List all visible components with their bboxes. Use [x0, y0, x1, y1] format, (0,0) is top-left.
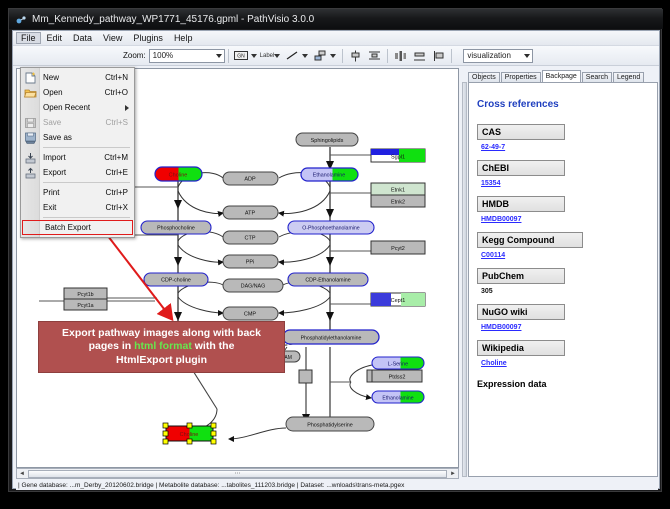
file-menu-item-open[interactable]: Open Ctrl+O — [21, 85, 134, 100]
visualization-combo[interactable]: visualization — [463, 49, 533, 63]
file-dropdown-menu[interactable]: New Ctrl+N Open Ctrl+O Open Recent — [20, 67, 135, 238]
toolbar-separator — [342, 49, 343, 63]
zoom-combo[interactable]: 100% — [149, 49, 225, 63]
menu-data[interactable]: Data — [68, 32, 97, 44]
chevron-down-icon — [216, 54, 222, 58]
stack-icon[interactable] — [430, 47, 447, 64]
file-menu-label-export: Export — [43, 168, 66, 177]
svg-text:DAG/NAG: DAG/NAG — [241, 284, 265, 290]
svg-text:Ethanolamine: Ethanolamine — [382, 395, 413, 401]
node-phosphocholine[interactable]: Phosphocholine — [141, 221, 211, 234]
toolbar: Zoom: 100% GN Label — [13, 46, 659, 66]
submenu-arrow-icon — [125, 105, 129, 111]
annotation-line-1: Export pathway images along with back — [62, 327, 261, 339]
svg-text:Phosphocholine: Phosphocholine — [157, 226, 195, 232]
tab-objects[interactable]: Objects — [468, 72, 500, 83]
file-menu-label-exit: Exit — [43, 203, 56, 212]
gene-box-pcyt1b[interactable]: Pcyt1b — [64, 288, 107, 299]
xref-block-chebi: ChEBI 15354 — [477, 160, 649, 187]
import-icon — [24, 152, 37, 164]
annotation-highlight: html format — [134, 340, 192, 352]
node-phosphatidylethanolamine[interactable]: Phosphatidylethanolamine — [283, 330, 379, 344]
zoom-value: 100% — [153, 51, 173, 60]
xref-name-wikipedia: Wikipedia — [477, 340, 565, 356]
svg-text:PPi: PPi — [246, 260, 255, 266]
file-menu-item-new[interactable]: New Ctrl+N — [21, 70, 134, 85]
datanode-icon[interactable]: GN — [233, 47, 250, 64]
align-left-icon[interactable] — [366, 47, 383, 64]
node-cmp[interactable]: CMP — [223, 307, 278, 320]
scroll-left-icon[interactable]: ◄ — [17, 471, 27, 477]
svg-text:ATP: ATP — [245, 211, 256, 217]
node-ctp[interactable]: CTP — [223, 231, 278, 244]
node-choline-selected[interactable]: Choline — [163, 423, 216, 444]
menu-edit[interactable]: Edit — [42, 32, 68, 44]
xref-block-hmdb: HMDB HMDB00097 — [477, 196, 649, 223]
annotation-line-2-prefix: pages in — [89, 340, 135, 352]
xref-name-cas: CAS — [477, 124, 565, 140]
xref-value-hmdb[interactable]: HMDB00097 — [481, 216, 649, 223]
expression-data-title: Expression data — [477, 379, 649, 389]
svg-text:Pcyt2: Pcyt2 — [391, 246, 405, 252]
menu-plugins[interactable]: Plugins — [128, 32, 168, 44]
svg-text:Pcyt1a: Pcyt1a — [77, 303, 93, 309]
gene-box-pcyt1a[interactable]: Pcyt1a — [64, 299, 107, 310]
chevron-down-icon[interactable] — [251, 54, 257, 58]
svg-text:Etnk1: Etnk1 — [391, 188, 405, 194]
side-panel-tabs: Objects Properties Backpage Search Legen… — [468, 68, 658, 82]
file-menu-item-batch-export[interactable]: Batch Export — [22, 220, 133, 235]
xref-value-pubchem: 305 — [481, 288, 649, 295]
tab-properties[interactable]: Properties — [501, 72, 541, 83]
menubar: File Edit Data View Plugins Help — [13, 31, 659, 46]
file-menu-label-open-recent: Open Recent — [43, 103, 90, 112]
file-menu-label-save-as: Save as — [43, 133, 72, 142]
align-center-icon[interactable] — [392, 47, 409, 64]
align-middle-icon[interactable] — [411, 47, 428, 64]
toolbar-separator — [387, 49, 388, 63]
node-ppi[interactable]: PPi — [223, 255, 278, 268]
svg-text:Ptdss2: Ptdss2 — [389, 375, 406, 381]
svg-text:CDP-choline: CDP-choline — [161, 278, 191, 284]
xref-value-nugo[interactable]: HMDB00097 — [481, 324, 649, 331]
file-menu-accel-open: Ctrl+O — [105, 88, 128, 97]
scroll-right-icon[interactable]: ► — [448, 471, 458, 477]
file-menu-item-print[interactable]: Print Ctrl+P — [21, 185, 134, 200]
file-menu-accel-new: Ctrl+N — [105, 73, 128, 82]
xref-block-nugo: NuGO wiki HMDB00097 — [477, 304, 649, 331]
svg-text:GN: GN — [237, 54, 245, 60]
node-sphingolipids[interactable]: Sphingolipids — [296, 133, 358, 146]
tab-search[interactable]: Search — [582, 72, 612, 83]
annotation-callout: Export pathway images along with back pa… — [38, 321, 285, 373]
file-menu-separator — [43, 147, 130, 148]
canvas-horizontal-scrollbar[interactable]: ◄ ⋯ ► — [16, 468, 459, 479]
annotation-line-3: HtmlExport plugin — [116, 354, 207, 366]
xref-name-kegg: Kegg Compound — [477, 232, 583, 248]
xref-block-pubchem: PubChem 305 — [477, 268, 649, 295]
chevron-down-icon[interactable] — [302, 54, 308, 58]
node-adp[interactable]: ADP — [223, 172, 278, 185]
menu-view[interactable]: View — [98, 32, 127, 44]
window-titlebar: Mm_Kennedy_pathway_WP1771_45176.gpml - P… — [9, 9, 663, 29]
svg-text:CTP: CTP — [245, 236, 256, 242]
gene-box-etnk1[interactable]: Etnk1 — [371, 183, 425, 195]
file-menu-label-new: New — [43, 73, 59, 82]
svg-text:CDP-Ethanolamine: CDP-Ethanolamine — [305, 278, 350, 284]
svg-text:Sphingolipids: Sphingolipids — [311, 138, 344, 144]
node-cdp-choline[interactable]: CDP-choline — [144, 273, 208, 286]
xref-name-chebi: ChEBI — [477, 160, 565, 176]
tab-backpage[interactable]: Backpage — [542, 70, 581, 83]
node-phosphatidylserine[interactable]: Phosphatidylserine — [286, 417, 374, 431]
svg-text:Phosphatidylethanolamine: Phosphatidylethanolamine — [301, 335, 362, 341]
svg-text:Choline: Choline — [180, 432, 199, 438]
label-tool-label: Label — [260, 53, 275, 59]
file-menu-label-save: Save — [43, 118, 61, 127]
chevron-down-icon[interactable] — [274, 54, 280, 58]
gene-box-ptdss2[interactable]: Ptdss2 — [372, 370, 422, 382]
xref-value-chebi[interactable]: 15354 — [481, 180, 649, 187]
file-menu-accel-print: Ctrl+P — [106, 188, 128, 197]
file-menu-item-save-as[interactable]: Save as — [21, 130, 134, 145]
menu-file[interactable]: File — [16, 32, 41, 44]
tab-legend[interactable]: Legend — [613, 72, 644, 83]
node-ethanolamine-2[interactable]: Ethanolamine — [372, 391, 424, 403]
new-document-icon — [24, 72, 37, 84]
file-menu-accel-import: Ctrl+M — [104, 153, 128, 162]
application-body: File Edit Data View Plugins Help Zoom: 1… — [12, 30, 660, 489]
svg-text:Sgpl1: Sgpl1 — [391, 155, 405, 161]
file-menu-label-print: Print — [43, 188, 59, 197]
annotation-line-2-suffix: with the — [192, 340, 235, 352]
file-menu-accel-exit: Ctrl+X — [106, 203, 128, 212]
node-choline-top[interactable]: Choline — [155, 167, 202, 181]
toolbar-separator — [228, 49, 229, 63]
svg-text:L-Serine: L-Serine — [388, 361, 408, 367]
svg-text:Phosphatidylserine: Phosphatidylserine — [307, 422, 353, 428]
node-l-serine[interactable]: L-Serine — [372, 357, 424, 369]
xref-name-pubchem: PubChem — [477, 268, 565, 284]
statusbar: | Gene database: ...m_Derby_20120602.bri… — [16, 480, 658, 490]
gene-box-sgpl1[interactable]: Sgpl1 — [371, 149, 425, 162]
file-menu-item-import[interactable]: Import Ctrl+M — [21, 150, 134, 165]
annotation-text: Export pathway images along with back pa… — [62, 327, 261, 366]
file-menu-accel-export: Ctrl+E — [106, 168, 128, 177]
xref-block-cas: CAS 62-49-7 — [477, 124, 649, 151]
toolbar-separator — [451, 49, 452, 63]
menu-help[interactable]: Help — [169, 32, 198, 44]
gene-box-etnk2[interactable]: Etnk2 — [371, 195, 425, 207]
xref-value-kegg[interactable]: C00114 — [481, 252, 649, 259]
xref-name-hmdb: HMDB — [477, 196, 565, 212]
save-as-icon — [24, 132, 37, 144]
node-atp[interactable]: ATP — [223, 206, 278, 219]
file-menu-label-import: Import — [43, 153, 66, 162]
svg-text:CMP: CMP — [244, 312, 257, 318]
chevron-down-icon[interactable] — [330, 54, 336, 58]
cross-references-title: Cross references — [477, 99, 649, 110]
file-menu-separator — [43, 182, 130, 183]
panel-resize-grip[interactable] — [462, 82, 467, 477]
file-menu-item-save[interactable]: Save Ctrl+S — [21, 115, 134, 130]
align-top-icon[interactable] — [347, 47, 364, 64]
line-icon[interactable] — [284, 47, 301, 64]
backpage-content: Cross references CAS 62-49-7 ChEBI 15354… — [468, 82, 658, 477]
chevron-down-icon — [524, 54, 530, 58]
svg-text:Choline: Choline — [169, 173, 188, 179]
desktop-window-frame: Mm_Kennedy_pathway_WP1771_45176.gpml - P… — [8, 8, 662, 492]
gene-box-cept1[interactable]: Cept1 — [371, 293, 425, 306]
anchor-icon[interactable] — [312, 47, 329, 64]
xref-value-cas[interactable]: 62-49-7 — [481, 144, 649, 151]
save-disk-icon — [24, 117, 37, 129]
xref-value-wikipedia[interactable]: Choline — [481, 360, 649, 367]
open-folder-icon — [24, 87, 37, 99]
node-o-phosphoethanolamine[interactable]: O-Phosphoethanolamine — [288, 221, 374, 234]
node-ethanolamine-1[interactable]: Ethanolamine — [301, 168, 358, 181]
gene-box-pcyt2[interactable]: Pcyt2 — [371, 241, 425, 254]
visualization-value: visualization — [467, 51, 511, 60]
file-menu-item-exit[interactable]: Exit Ctrl+X — [21, 200, 134, 215]
file-menu-separator — [43, 217, 130, 218]
zoom-label: Zoom: — [123, 51, 146, 60]
svg-text:Ethanolamine: Ethanolamine — [313, 173, 345, 179]
file-menu-label-batch-export: Batch Export — [45, 223, 91, 232]
node-cdp-ethanolamine[interactable]: CDP-Ethanolamine — [288, 273, 368, 286]
file-menu-accel-save: Ctrl+S — [106, 118, 128, 127]
svg-text:Etnk2: Etnk2 — [391, 200, 405, 206]
xref-block-wikipedia: Wikipedia Choline — [477, 340, 649, 367]
svg-text:O-Phosphoethanolamine: O-Phosphoethanolamine — [302, 226, 360, 232]
file-menu-item-export[interactable]: Export Ctrl+E — [21, 165, 134, 180]
xref-block-kegg: Kegg Compound C00114 — [477, 232, 649, 259]
export-icon — [24, 167, 37, 179]
xref-name-nugo: NuGO wiki — [477, 304, 565, 320]
pathvisio-icon — [15, 13, 27, 25]
file-menu-label-open: Open — [43, 88, 63, 97]
window-title: Mm_Kennedy_pathway_WP1771_45176.gpml - P… — [32, 14, 314, 25]
screenshot-root: Mm_Kennedy_pathway_WP1771_45176.gpml - P… — [0, 0, 670, 509]
svg-text:ADP: ADP — [244, 177, 256, 183]
statusbar-text: | Gene database: ...m_Derby_20120602.bri… — [18, 482, 404, 489]
svg-text:Pcyt1b: Pcyt1b — [77, 292, 93, 298]
side-panel: Objects Properties Backpage Search Legen… — [462, 68, 658, 479]
svg-text:Cept1: Cept1 — [391, 298, 406, 304]
scroll-thumb[interactable]: ⋯ — [28, 470, 447, 478]
file-menu-item-open-recent[interactable]: Open Recent — [21, 100, 134, 115]
node-dag-nag[interactable]: DAG/NAG — [223, 279, 283, 292]
